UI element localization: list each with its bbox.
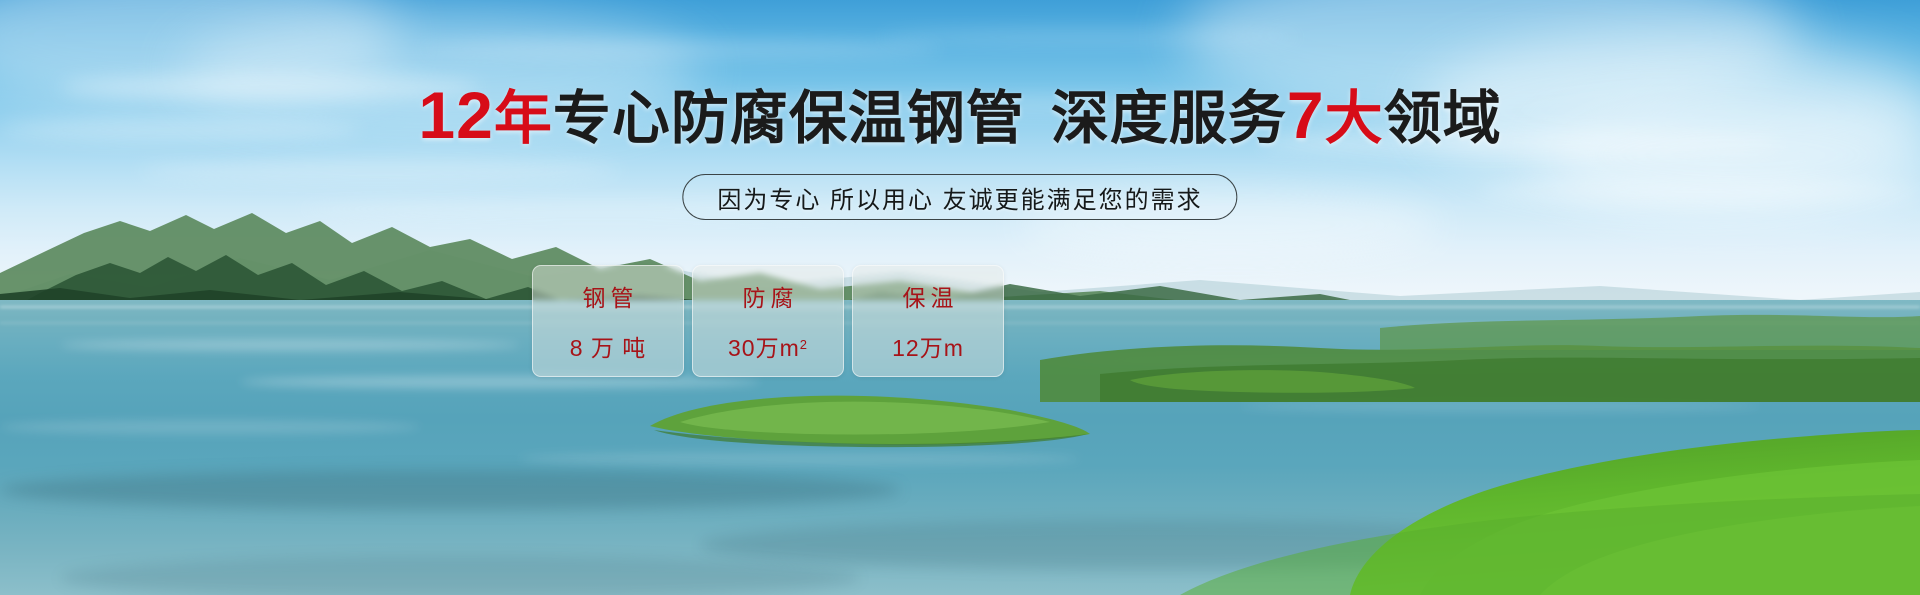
headline-fields-text: 领域: [1384, 86, 1502, 151]
grass-island-small: [1120, 360, 1420, 396]
stat-card-value-text: 12万m: [892, 329, 964, 363]
cloud-decoration: [140, 160, 620, 182]
stat-card-value-text: 8 万 吨: [570, 329, 647, 363]
cloud-decoration: [420, 40, 940, 58]
stat-card-value-text: 30万m: [728, 329, 800, 363]
subtitle-text: 因为专心 所以用心 友诚更能满足您的需求: [717, 180, 1202, 215]
stat-card-label: 保温: [898, 279, 959, 313]
stat-card-label: 防腐: [738, 279, 799, 313]
stat-card-anticorrosion[interactable]: 防腐 30万m2: [692, 265, 844, 377]
water-shadow: [0, 470, 900, 510]
stat-card-group: 钢管 8 万 吨 防腐 30万m2 保温 12万m: [532, 265, 1004, 377]
stat-card-value: 8 万 吨: [570, 329, 647, 363]
cloud-decoration: [880, 30, 1300, 44]
headline-fields-unit: 大: [1325, 86, 1384, 151]
subtitle-pill: 因为专心 所以用心 友诚更能满足您的需求: [682, 174, 1237, 220]
water-shimmer: [60, 340, 520, 350]
stat-card-steel-pipe[interactable]: 钢管 8 万 吨: [532, 265, 684, 377]
headline-main-text: 专心防腐保温钢管: [553, 86, 1025, 151]
hero-banner: 12年专心防腐保温钢管深度服务7大领域 因为专心 所以用心 友诚更能满足您的需求…: [0, 0, 1920, 595]
water-shimmer: [0, 420, 420, 434]
stat-card-value: 30万m2: [728, 329, 808, 363]
page-title: 12年专心防腐保温钢管深度服务7大领域: [0, 84, 1920, 150]
marsh-grass-far-right: [1380, 300, 1920, 350]
water-shimmer: [520, 452, 1080, 466]
headline-service-text: 深度服务: [1051, 86, 1287, 151]
headline-years-unit: 年: [494, 86, 553, 151]
headline-years-number: 12: [418, 78, 493, 152]
grass-foreground-edge: [1180, 470, 1920, 595]
stat-card-value: 12万m: [892, 329, 964, 363]
stat-card-insulation[interactable]: 保温 12万m: [852, 265, 1004, 377]
headline-fields-number: 7: [1287, 78, 1325, 152]
water-shadow: [60, 556, 860, 595]
stat-card-label: 钢管: [578, 279, 639, 313]
